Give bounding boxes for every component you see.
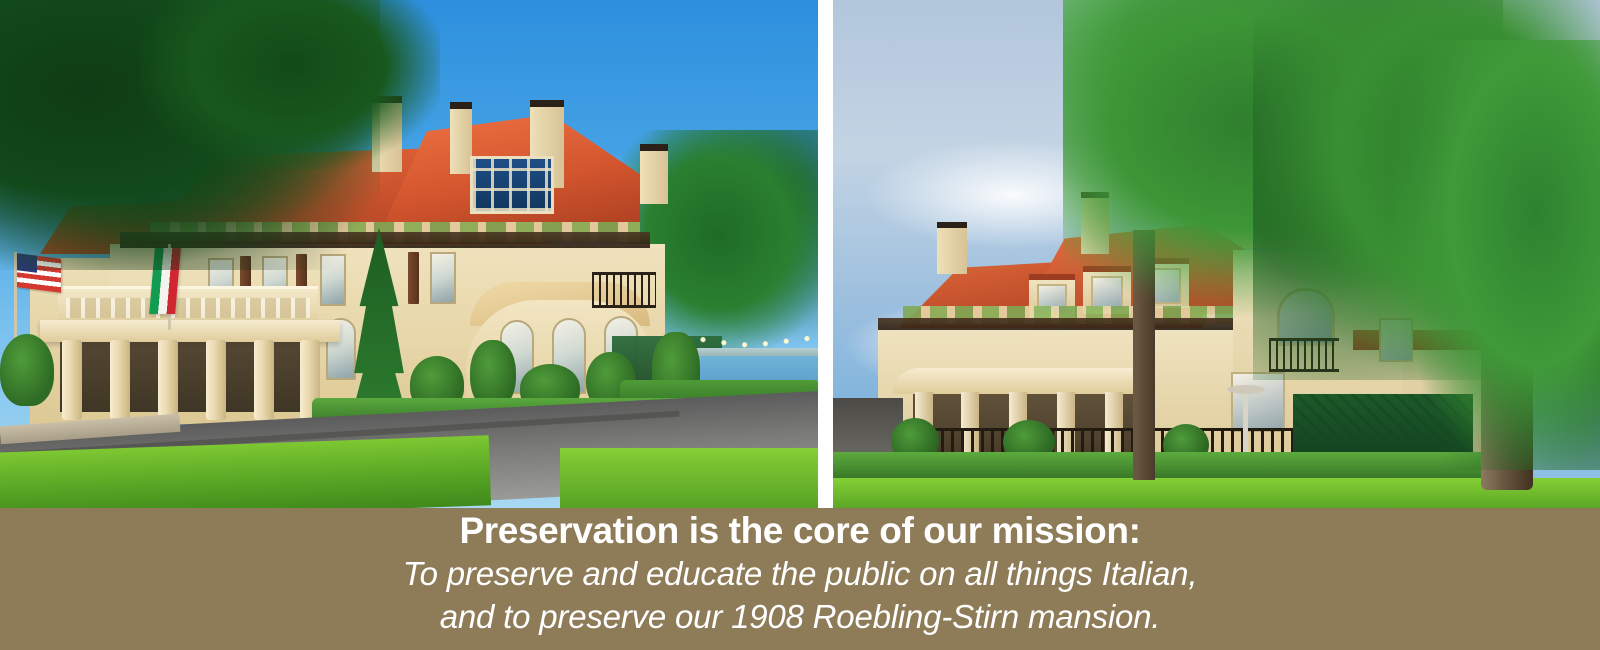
portico-column — [62, 340, 82, 420]
dormer-window — [470, 156, 554, 214]
photo-mansion-side-elevation — [833, 0, 1600, 508]
portico-entablature — [40, 320, 340, 342]
tree-canopy-right — [1393, 40, 1600, 470]
portico-column — [110, 340, 130, 420]
portico-entablature — [893, 368, 1143, 394]
facade-window — [1231, 372, 1285, 432]
chimney — [450, 102, 472, 174]
chimney — [937, 222, 967, 274]
portico-column — [254, 340, 274, 420]
portico-interior-shadow — [60, 342, 320, 412]
preservation-mission-banner: Preservation is the core of our mission:… — [0, 0, 1600, 650]
portico-column — [158, 340, 178, 420]
lawn — [560, 448, 818, 508]
string-lights — [690, 324, 818, 350]
mission-headline: Preservation is the core of our mission: — [0, 510, 1600, 552]
tree-canopy-top — [140, 0, 440, 170]
portico-column — [206, 340, 226, 420]
chimney — [640, 144, 668, 204]
window-shutter — [408, 252, 419, 304]
mission-line-3: and to preserve our 1908 Roebling-Stirn … — [0, 595, 1600, 638]
mission-line-2: To preserve and educate the public on al… — [0, 552, 1600, 595]
photo-mansion-front-elevation — [0, 0, 818, 508]
photo-strip — [0, 0, 1600, 508]
shrub — [0, 334, 54, 406]
mission-caption-band: Preservation is the core of our mission:… — [0, 508, 1600, 650]
facade-window — [430, 252, 456, 304]
balcony-railing — [592, 272, 656, 308]
